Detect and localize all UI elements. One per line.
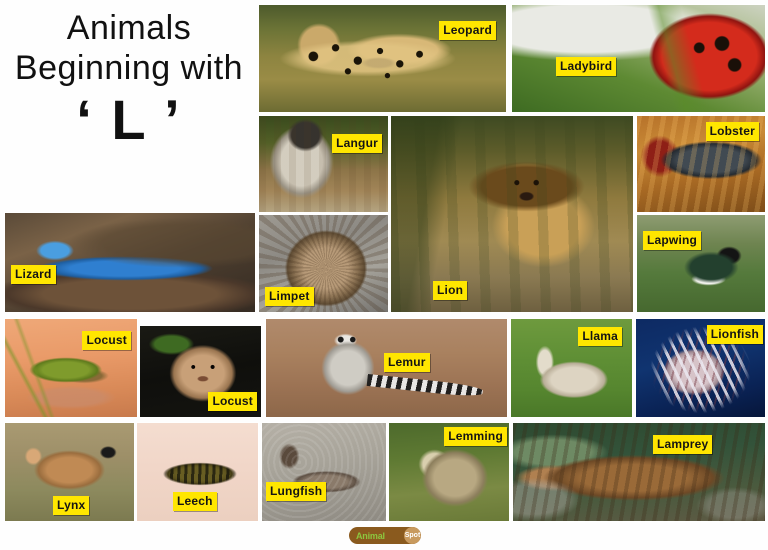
label-locust-loris: Locust: [208, 392, 257, 411]
photo-cell-lion[interactable]: Lion: [390, 115, 634, 313]
langur-photo: [259, 116, 388, 212]
photo-cell-locust-loris[interactable]: Locust: [139, 325, 262, 418]
animal-spot-logo[interactable]: Animal Spot: [349, 527, 421, 544]
photo-cell-llama[interactable]: Llama: [510, 318, 633, 418]
photo-cell-lamprey[interactable]: Lamprey: [512, 422, 766, 522]
label-lungfish: Lungfish: [266, 482, 326, 501]
label-limpet: Limpet: [265, 287, 314, 306]
label-lynx: Lynx: [53, 496, 89, 515]
photo-cell-leopard[interactable]: Leopard: [258, 4, 507, 113]
lion-photo: [391, 116, 633, 312]
page-title: Animals Beginning with ‘ L ’: [0, 8, 258, 148]
ladybird-photo: [512, 5, 765, 112]
photo-cell-lapwing[interactable]: Lapwing: [636, 214, 766, 313]
label-lobster: Lobster: [706, 122, 759, 141]
photo-cell-lynx[interactable]: Lynx: [4, 422, 135, 522]
label-lizard: Lizard: [11, 265, 56, 284]
lizard-photo: [5, 213, 255, 312]
label-locust-grasshopper: Locust: [82, 331, 131, 350]
label-lemur: Lemur: [384, 353, 430, 372]
label-lionfish: Lionfish: [707, 325, 763, 344]
photo-cell-leech[interactable]: Leech: [136, 422, 259, 522]
photo-cell-langur[interactable]: Langur: [258, 115, 389, 213]
logo-animal-text: Animal: [349, 531, 385, 541]
animal-poster: Animals Beginning with ‘ L ’ Leopard Lad…: [0, 0, 768, 550]
label-lapwing: Lapwing: [643, 231, 701, 250]
photo-cell-lizard[interactable]: Lizard: [4, 212, 256, 313]
label-ladybird: Ladybird: [556, 57, 616, 76]
logo-spot-circle: Spot: [404, 527, 421, 544]
photo-cell-lemur[interactable]: Lemur: [265, 318, 508, 418]
photo-cell-lemming[interactable]: Lemming: [388, 422, 510, 522]
photo-cell-lobster[interactable]: Lobster: [636, 115, 766, 213]
lapwing-photo: [637, 215, 765, 312]
title-line-1: Animals: [0, 8, 258, 48]
lungfish-photo: [262, 423, 386, 521]
label-leech: Leech: [173, 492, 217, 511]
label-llama: Llama: [578, 327, 622, 346]
photo-cell-locust-grasshopper[interactable]: Locust: [4, 318, 138, 418]
lamprey-photo: [513, 423, 765, 521]
title-letter: ‘ L ’: [0, 92, 258, 148]
photo-cell-limpet[interactable]: Limpet: [258, 214, 389, 313]
label-lamprey: Lamprey: [653, 435, 712, 454]
label-lemming: Lemming: [444, 427, 507, 446]
title-line-2: Beginning with: [0, 48, 258, 88]
label-lion: Lion: [433, 281, 467, 300]
label-langur: Langur: [332, 134, 382, 153]
logo-spot-text: Spot: [405, 532, 421, 539]
label-leopard: Leopard: [439, 21, 496, 40]
photo-cell-lionfish[interactable]: Lionfish: [635, 318, 766, 418]
photo-cell-lungfish[interactable]: Lungfish: [261, 422, 387, 522]
photo-cell-ladybird[interactable]: Ladybird: [511, 4, 766, 113]
